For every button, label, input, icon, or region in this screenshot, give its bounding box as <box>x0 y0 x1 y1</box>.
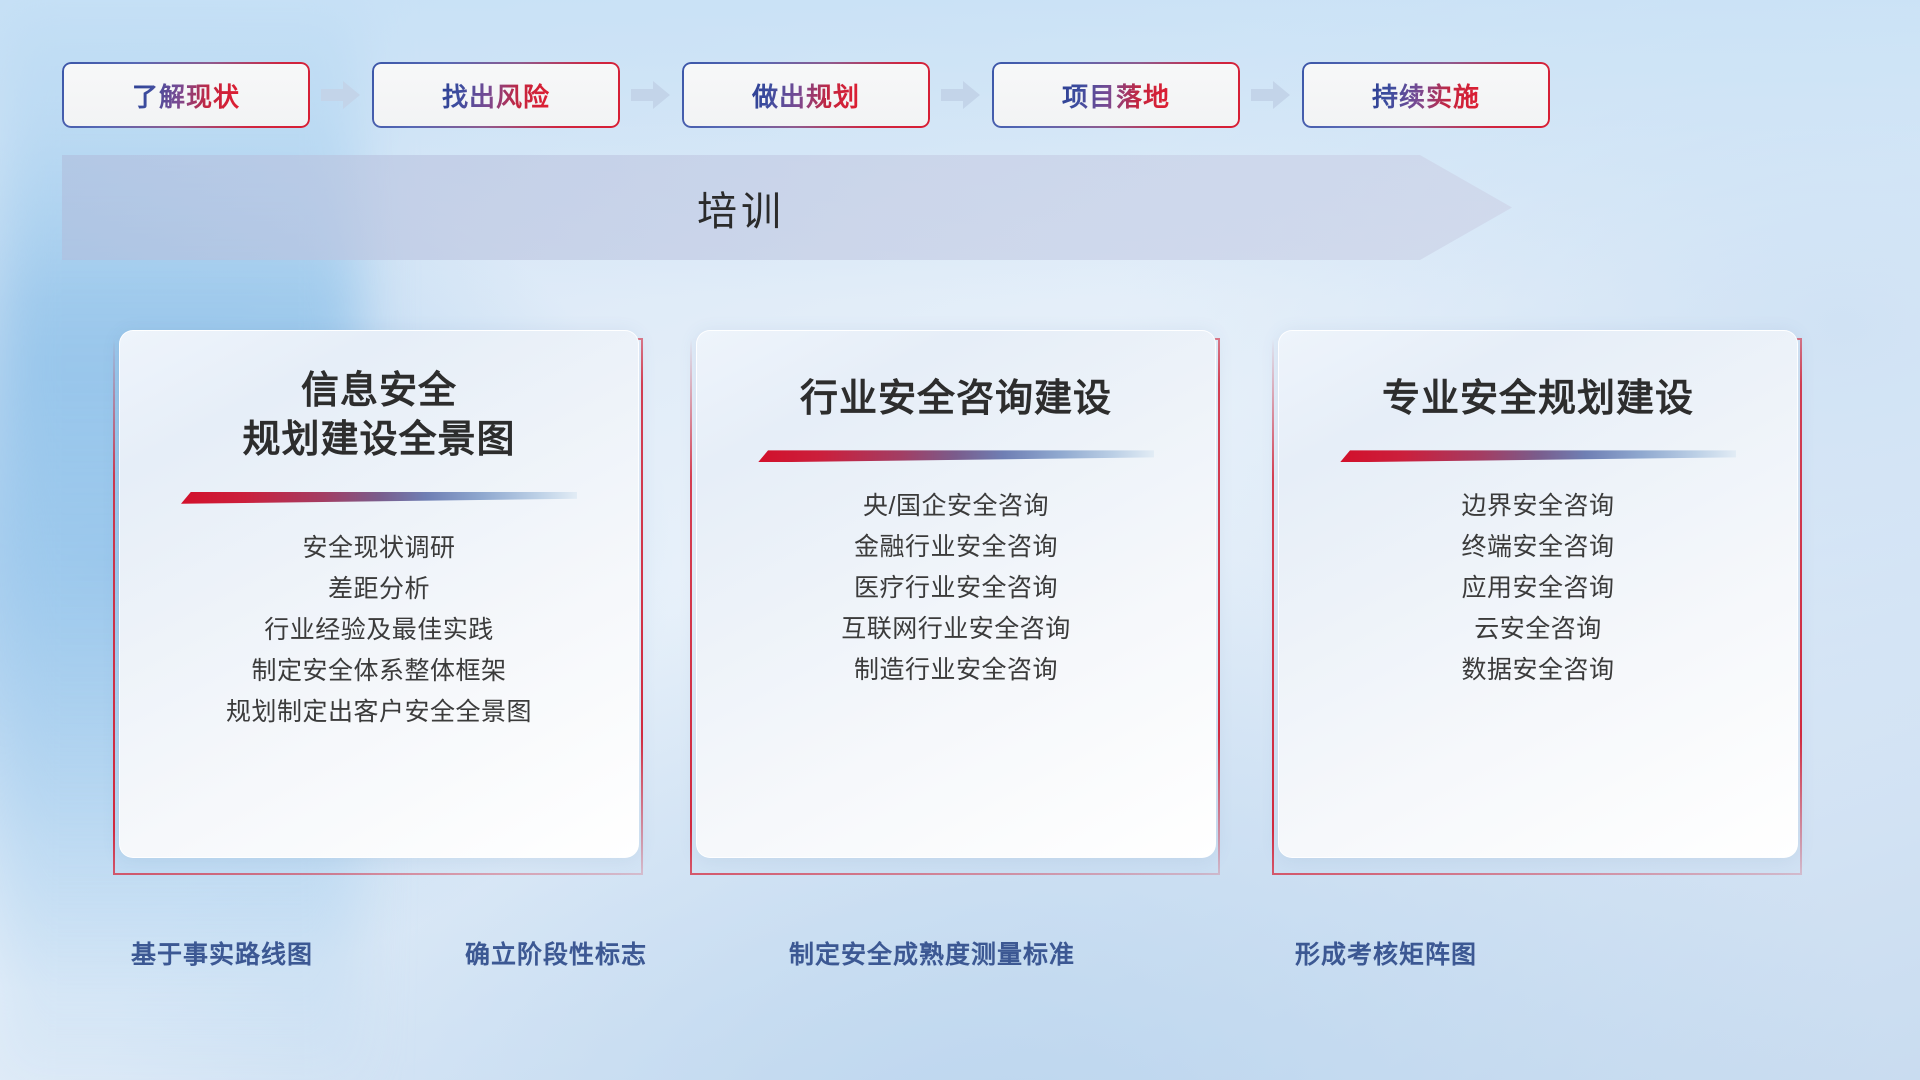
list-item: 终端安全咨询 <box>1461 527 1614 568</box>
card-item-list: 安全现状调研 差距分析 行业经验及最佳实践 制定安全体系整体框架 规划制定出客户… <box>120 528 638 733</box>
footnote-label: 基于事实路线图 <box>131 935 313 971</box>
card-title: 行业安全咨询建设 <box>697 375 1215 424</box>
list-item: 制造行业安全咨询 <box>854 650 1058 691</box>
card-3[interactable]: 专业安全规划建设 边界安全咨询 终端安全咨询 应用安全咨询 云安全咨询 数据安全… <box>1272 330 1802 875</box>
list-item: 边界安全咨询 <box>1461 486 1614 527</box>
card-divider <box>758 450 1154 462</box>
list-item: 差距分析 <box>328 569 430 610</box>
card-body: 行业安全咨询建设 央/国企安全咨询 金融行业安全咨询 医疗行业安全咨询 互联网行… <box>696 330 1216 858</box>
card-divider <box>181 492 577 504</box>
footnote-label: 制定安全成熟度测量标准 <box>789 935 1075 971</box>
list-item: 互联网行业安全咨询 <box>841 609 1071 650</box>
slide-canvas: 了解现状 找出风险 做出规划 项目落地 <box>0 0 1920 1080</box>
list-item: 行业经验及最佳实践 <box>264 610 494 651</box>
training-banner: 培训 <box>62 155 1512 260</box>
card-body: 专业安全规划建设 边界安全咨询 终端安全咨询 应用安全咨询 云安全咨询 数据安全… <box>1278 330 1798 858</box>
list-item: 制定安全体系整体框架 <box>251 651 506 692</box>
list-item: 央/国企安全咨询 <box>863 486 1049 527</box>
card-item-list: 央/国企安全咨询 金融行业安全咨询 医疗行业安全咨询 互联网行业安全咨询 制造行… <box>697 486 1215 691</box>
process-step-label: 项目落地 <box>1062 77 1170 114</box>
card-title: 信息安全 规划建设全景图 <box>120 367 638 466</box>
card-2[interactable]: 行业安全咨询建设 央/国企安全咨询 金融行业安全咨询 医疗行业安全咨询 互联网行… <box>690 330 1220 875</box>
list-item: 安全现状调研 <box>302 528 455 569</box>
arrow-right-icon <box>930 62 992 128</box>
process-step-label: 持续实施 <box>1372 77 1480 114</box>
banner-title: 培训 <box>62 155 1420 260</box>
footnote-row: 基于事实路线图 确立阶段性标志 制定安全成熟度测量标准 形成考核矩阵图 <box>0 935 1920 985</box>
card-body: 信息安全 规划建设全景图 安全现状调研 差距分析 行业经验及最佳实践 制定安全体… <box>119 330 639 858</box>
process-step-label: 找出风险 <box>442 77 550 114</box>
arrow-right-icon <box>310 62 372 128</box>
process-step-label: 做出规划 <box>752 77 860 114</box>
list-item: 金融行业安全咨询 <box>854 527 1058 568</box>
process-step-1[interactable]: 了解现状 <box>62 62 310 128</box>
arrow-right-icon <box>1240 62 1302 128</box>
list-item: 数据安全咨询 <box>1461 650 1614 691</box>
card-title: 专业安全规划建设 <box>1279 375 1797 424</box>
card-1[interactable]: 信息安全 规划建设全景图 安全现状调研 差距分析 行业经验及最佳实践 制定安全体… <box>113 330 643 875</box>
arrow-right-icon <box>620 62 682 128</box>
footnote-label: 确立阶段性标志 <box>465 935 647 971</box>
card-item-list: 边界安全咨询 终端安全咨询 应用安全咨询 云安全咨询 数据安全咨询 <box>1279 486 1797 691</box>
process-step-row: 了解现状 找出风险 做出规划 项目落地 <box>62 62 1858 128</box>
card-row: 信息安全 规划建设全景图 安全现状调研 差距分析 行业经验及最佳实践 制定安全体… <box>0 330 1920 875</box>
footnote-label: 形成考核矩阵图 <box>1295 935 1477 971</box>
process-step-4[interactable]: 项目落地 <box>992 62 1240 128</box>
process-step-2[interactable]: 找出风险 <box>372 62 620 128</box>
process-step-label: 了解现状 <box>132 77 240 114</box>
card-divider <box>1340 450 1736 462</box>
list-item: 云安全咨询 <box>1474 609 1602 650</box>
list-item: 应用安全咨询 <box>1461 568 1614 609</box>
list-item: 医疗行业安全咨询 <box>854 568 1058 609</box>
process-step-3[interactable]: 做出规划 <box>682 62 930 128</box>
process-step-5[interactable]: 持续实施 <box>1302 62 1550 128</box>
list-item: 规划制定出客户安全全景图 <box>226 692 532 733</box>
